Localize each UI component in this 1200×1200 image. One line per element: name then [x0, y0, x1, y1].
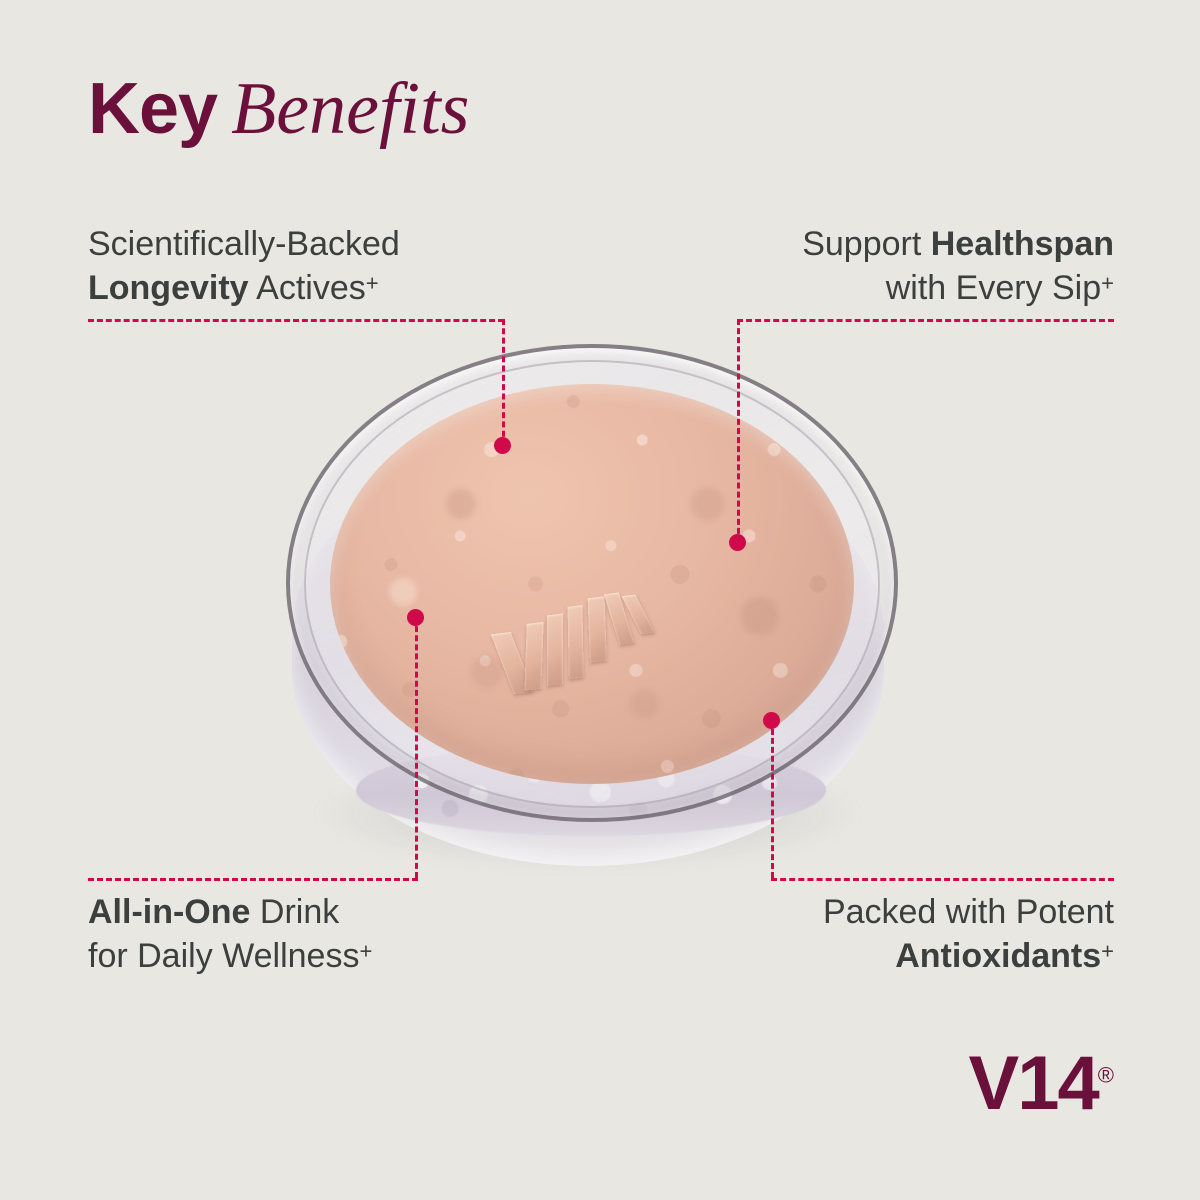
- dagger-symbol: +: [1101, 939, 1114, 964]
- connector-line-horizontal: [88, 319, 504, 322]
- connector-line-vertical: [502, 319, 505, 446]
- infographic-canvas: KeyBenefits: [0, 0, 1200, 1200]
- callout-line-2: for Daily Wellness+: [88, 934, 372, 978]
- connector-line-vertical: [415, 617, 418, 878]
- connector-dot-top-right: [729, 534, 746, 551]
- title-word-benefits: Benefits: [231, 68, 469, 150]
- connector-line-vertical: [737, 319, 740, 543]
- connector-line-horizontal: [88, 878, 418, 881]
- callout-line-1: All-in-One Drink: [88, 890, 372, 934]
- callout-line-2: with Every Sip+: [802, 266, 1114, 310]
- product-petri-dish: [286, 344, 890, 884]
- brand-logo-text: V14: [969, 1041, 1098, 1126]
- connector-line-horizontal: [737, 319, 1114, 322]
- callout-line-2: Antioxidants+: [823, 934, 1114, 978]
- connector-dot-top-left: [494, 437, 511, 454]
- callout-scientifically-backed-longevity-actives: Scientifically-Backed Longevity Actives+: [88, 222, 400, 310]
- page-title: KeyBenefits: [88, 72, 469, 146]
- connector-line-horizontal: [771, 878, 1114, 881]
- title-word-key: Key: [88, 69, 217, 149]
- connector-line-vertical: [771, 720, 774, 878]
- callout-line-2: Longevity Actives+: [88, 266, 400, 310]
- callout-line-1: Packed with Potent: [823, 890, 1114, 934]
- callout-support-healthspan-every-sip: Support Healthspan with Every Sip+: [802, 222, 1114, 310]
- callout-line-1: Scientifically-Backed: [88, 222, 400, 266]
- dagger-symbol: +: [1101, 271, 1114, 296]
- dish-glass-rim: [286, 344, 898, 822]
- callout-line-1: Support Healthspan: [802, 222, 1114, 266]
- callout-all-in-one-drink-daily-wellness: All-in-One Drink for Daily Wellness+: [88, 890, 372, 978]
- callout-packed-with-potent-antioxidants: Packed with Potent Antioxidants+: [823, 890, 1114, 978]
- brand-logo-v14: V14®: [969, 1046, 1114, 1122]
- dagger-symbol: +: [366, 271, 379, 296]
- registered-trademark-icon: ®: [1098, 1063, 1114, 1088]
- dagger-symbol: +: [359, 939, 372, 964]
